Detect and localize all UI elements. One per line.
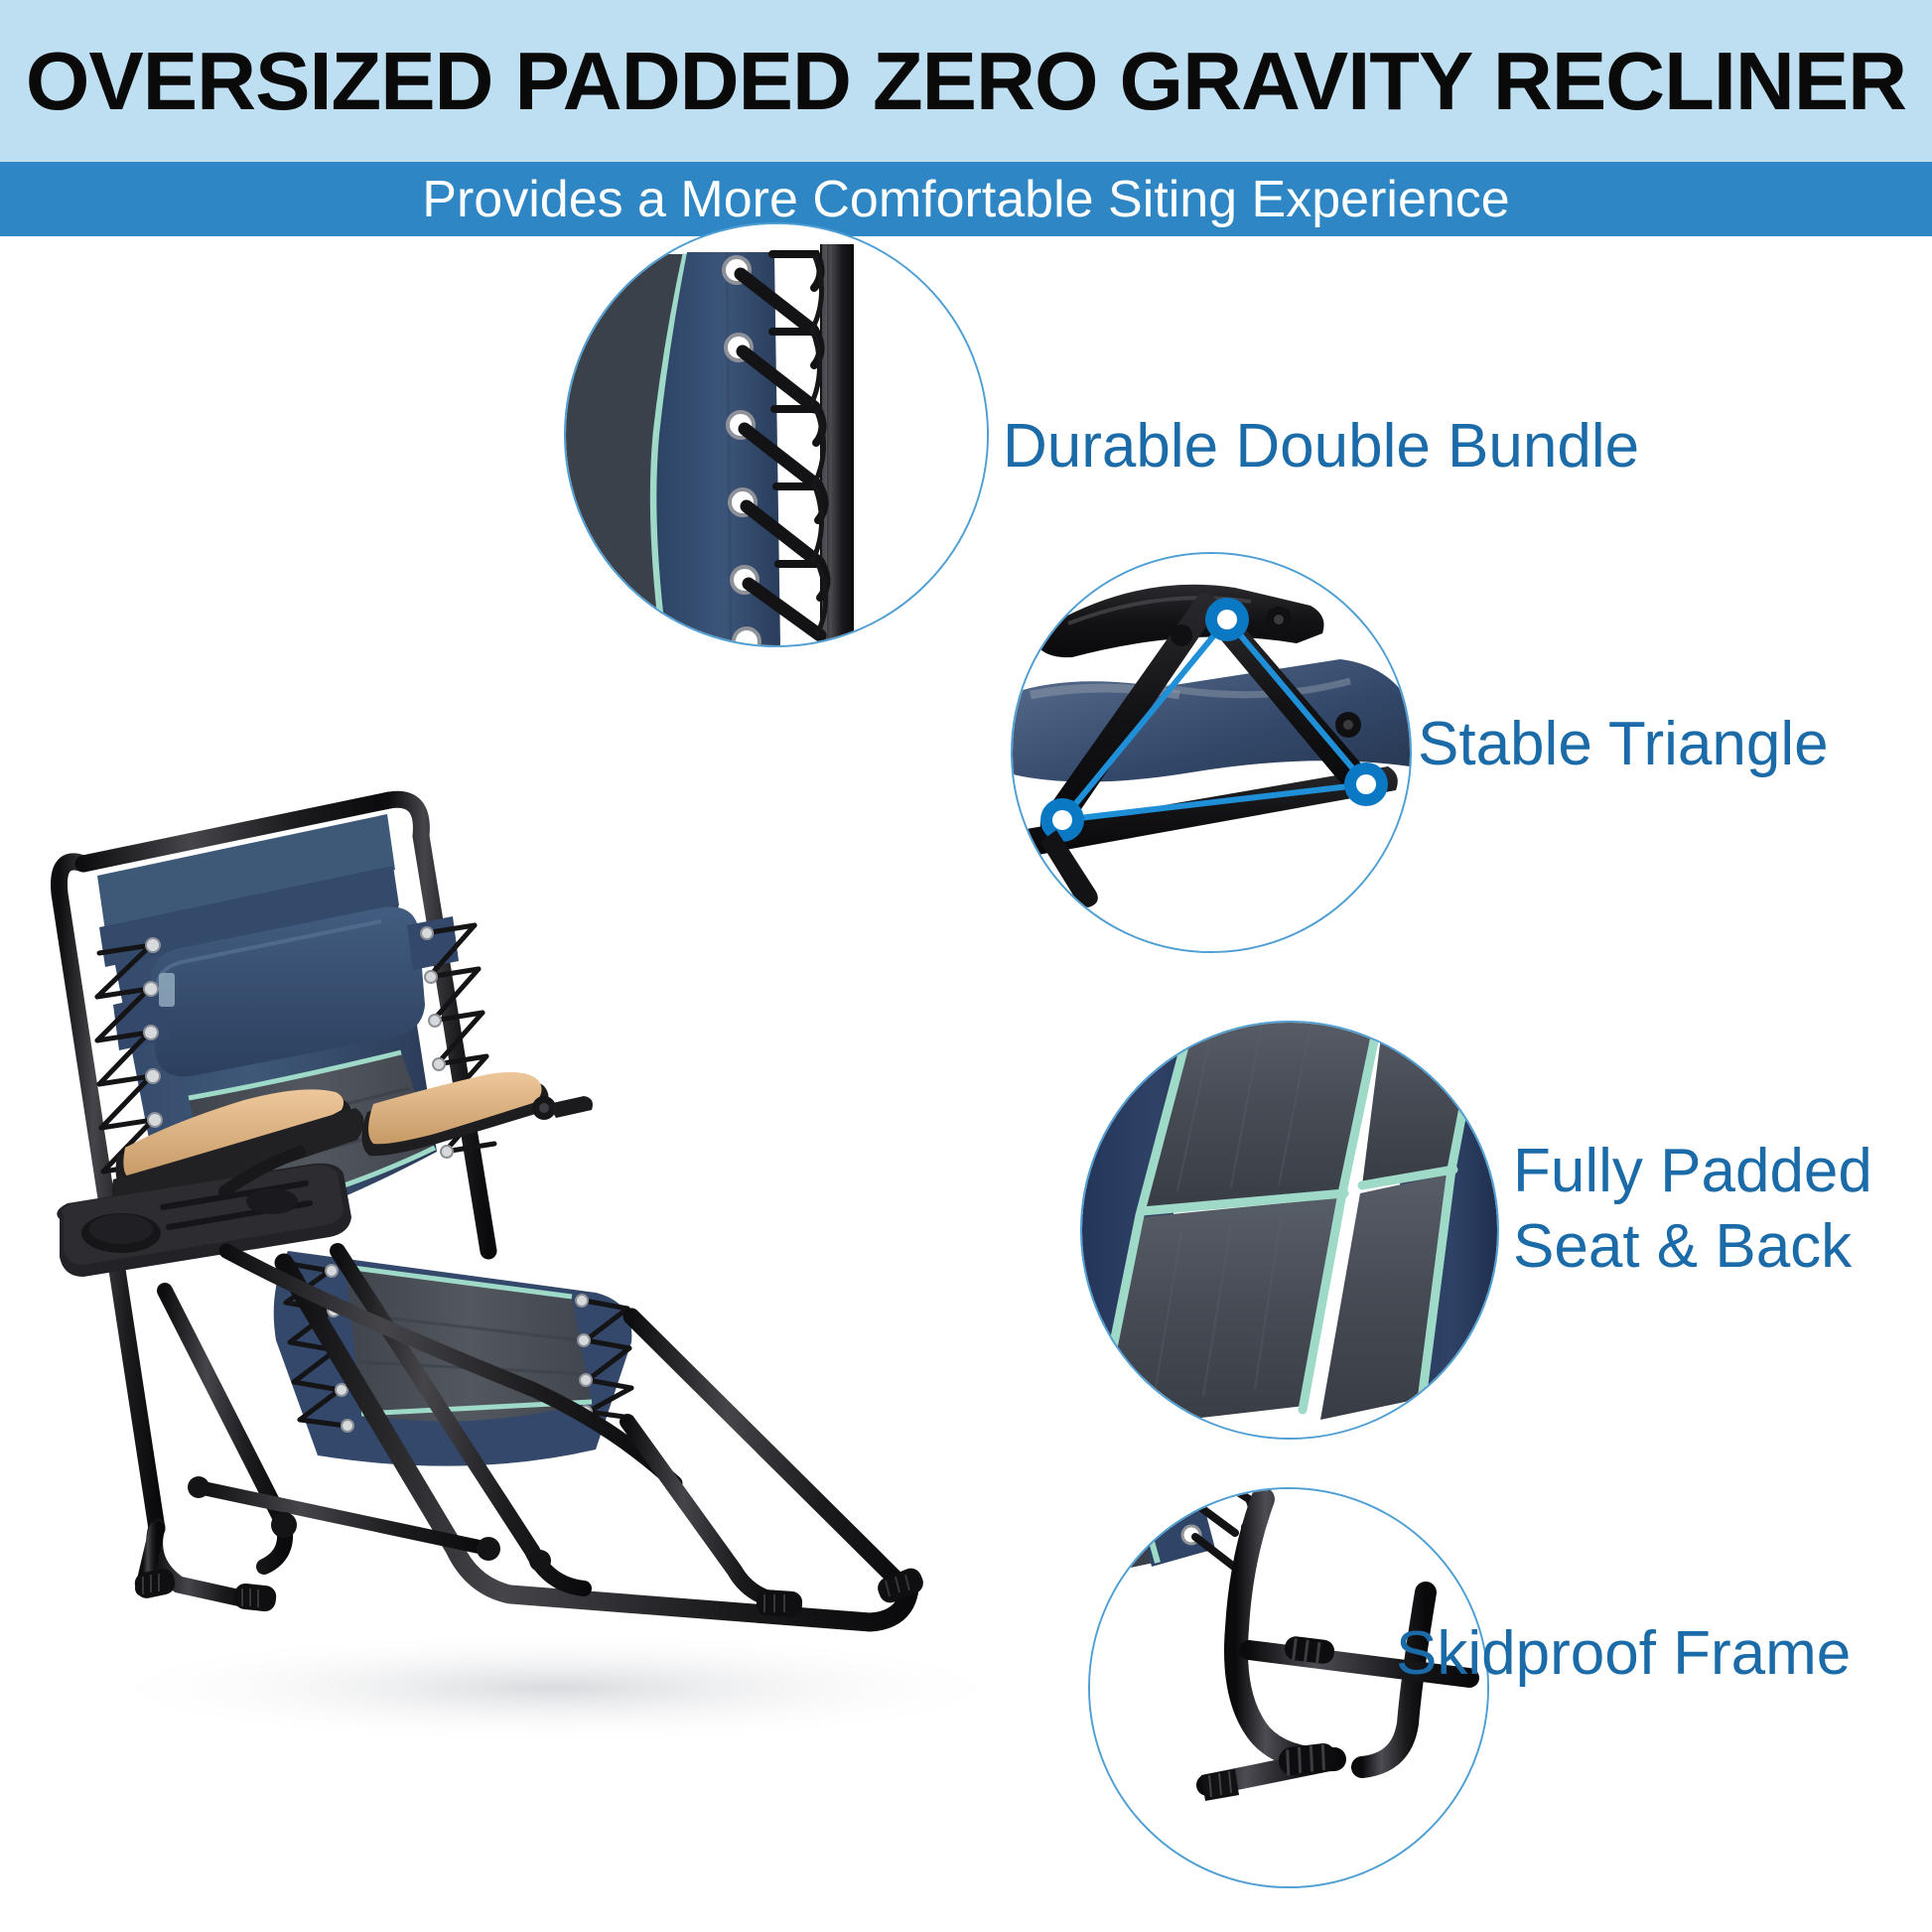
triangle-brace-detail (1013, 554, 1410, 951)
chair-illustration (40, 556, 1092, 1777)
subtitle-band: Provides a More Comfortable Siting Exper… (0, 162, 1932, 236)
callout-label-skidproof-frame: Skidproof Frame (1396, 1616, 1851, 1692)
title-band: OVERSIZED PADDED ZERO GRAVITY RECLINER (0, 0, 1932, 162)
callout-circle-fully-padded (1080, 1021, 1499, 1440)
page-title: OVERSIZED PADDED ZERO GRAVITY RECLINER (26, 40, 1906, 122)
quilted-padding-detail (1082, 1023, 1497, 1438)
callout-label-stable-triangle: Stable Triangle (1418, 707, 1829, 782)
callout-circle-stable-triangle (1011, 552, 1412, 953)
bungee-lacing-detail (566, 224, 987, 645)
product-image (40, 556, 1092, 1777)
callout-label-durable-double-bundle: Durable Double Bundle (1003, 409, 1639, 484)
page-subtitle: Provides a More Comfortable Siting Exper… (422, 174, 1509, 225)
callout-label-fully-padded: Fully Padded Seat & Back (1513, 1134, 1872, 1284)
callout-circle-durable-double-bundle (564, 222, 989, 647)
